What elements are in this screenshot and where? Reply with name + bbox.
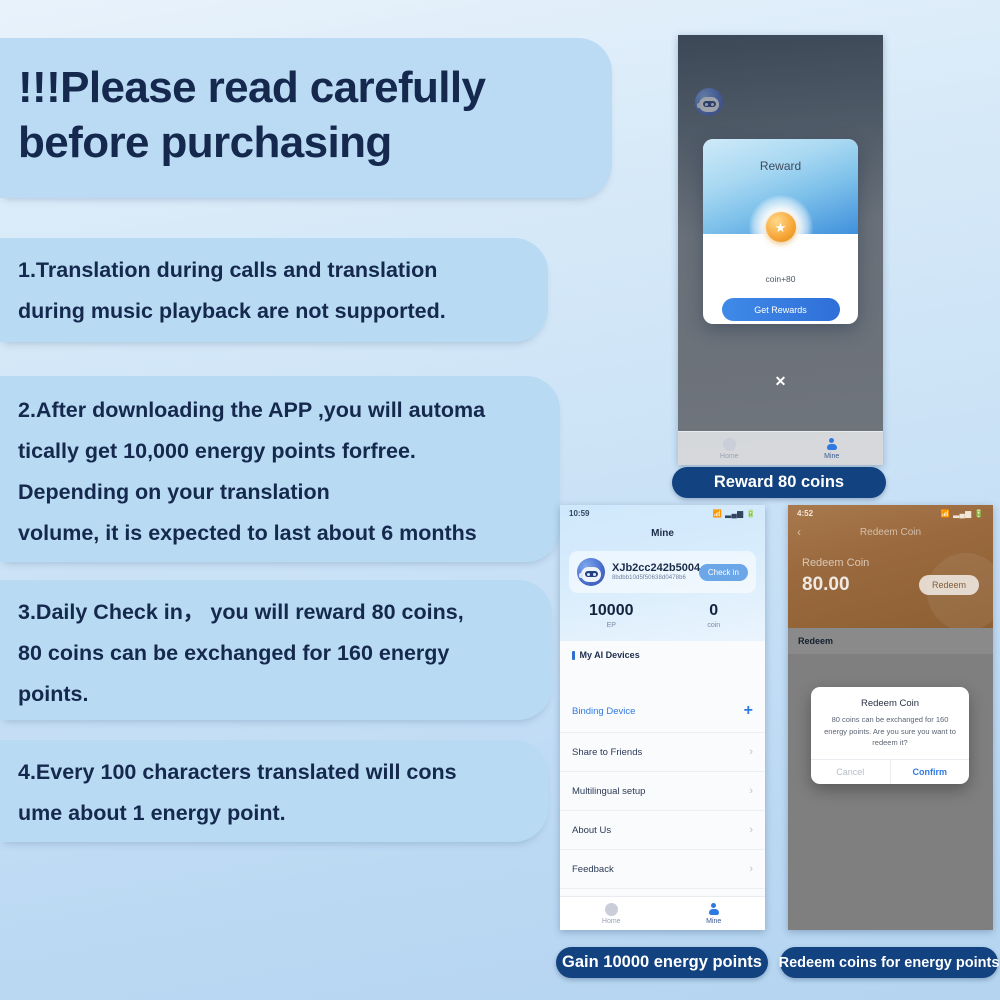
tab-mine-label: Mine bbox=[824, 453, 839, 460]
redeem-dialog-actions: Cancel Confirm bbox=[811, 759, 969, 784]
phone2-row-1-label: Share to Friends bbox=[572, 747, 642, 758]
phone2-row-multilingual-setup[interactable]: Multilingual setup › bbox=[560, 772, 765, 811]
point-2-line-3: Depending on your translation bbox=[18, 472, 538, 513]
phone2-coin-label: coin bbox=[663, 622, 766, 629]
phone2-account-name: XJb2cc242b5004 bbox=[612, 562, 692, 575]
phone2-nav-title: Mine bbox=[560, 521, 765, 545]
home-icon bbox=[723, 438, 736, 451]
caption-gain: Gain 10000 energy points bbox=[556, 947, 768, 978]
point-bubble-2: 2.After downloading the APP ,you will au… bbox=[0, 376, 560, 562]
get-rewards-button[interactable]: Get Rewards bbox=[722, 298, 840, 321]
reward-modal: Reward ★ coin+80 Get Rewards bbox=[703, 139, 858, 324]
phone2-stat-ep: 10000 EP bbox=[560, 602, 663, 629]
phone2-row-feedback[interactable]: Feedback › bbox=[560, 850, 765, 889]
cancel-button[interactable]: Cancel bbox=[811, 760, 891, 784]
phone2-row-0-label: Binding Device bbox=[572, 706, 635, 717]
redeem-dialog-title: Redeem Coin bbox=[811, 687, 969, 714]
phone-screenshot-mine: 10:59 📶 ▂▄▆ 🔋 Mine XJb2cc242b5004 8bdbb1… bbox=[560, 505, 765, 930]
tab-home-label: Home bbox=[720, 453, 739, 460]
point-2-line-2: tically get 10,000 energy points forfree… bbox=[18, 431, 538, 472]
reward-coin-glow: ★ bbox=[749, 195, 813, 259]
phone2-ep-value: 10000 bbox=[560, 602, 663, 620]
phone3-status-time: 4:52 bbox=[797, 509, 813, 518]
plus-icon[interactable]: + bbox=[744, 703, 753, 719]
phone2-row-2-label: Multilingual setup bbox=[572, 786, 645, 797]
phone3-nav-title: Redeem Coin bbox=[797, 527, 984, 538]
phone2-account-card[interactable]: XJb2cc242b5004 8bdbb10d5f50638d0478b6 Ch… bbox=[569, 551, 756, 593]
phone2-account-text: XJb2cc242b5004 8bdbb10d5f50638d0478b6 bbox=[612, 562, 692, 583]
phone2-row-binding-device[interactable]: Binding Device + bbox=[560, 690, 765, 733]
chevron-right-icon: › bbox=[749, 746, 753, 758]
phone2-tab-bar: Home Mine bbox=[560, 896, 765, 930]
phone3-amount-value: 80.00 bbox=[802, 574, 850, 596]
tab-mine[interactable]: Mine bbox=[781, 432, 884, 465]
chevron-right-icon: › bbox=[749, 785, 753, 797]
phone3-amount-row: 80.00 Redeem bbox=[788, 569, 993, 596]
phone2-coin-value: 0 bbox=[663, 602, 766, 620]
caption-reward: Reward 80 coins bbox=[672, 467, 886, 498]
phone1-tab-bar: Home Mine bbox=[678, 431, 883, 465]
point-3-line-1: 3.Daily Check in， you will reward 80 coi… bbox=[18, 592, 530, 633]
point-3-line-3: points. bbox=[18, 674, 530, 715]
phone2-check-in-button[interactable]: Check in bbox=[699, 564, 748, 581]
chevron-right-icon: › bbox=[749, 863, 753, 875]
phone2-status-bar: 10:59 📶 ▂▄▆ 🔋 bbox=[560, 505, 765, 521]
tab-home[interactable]: Home bbox=[678, 432, 781, 465]
phone3-sub-header: Redeem bbox=[788, 628, 993, 654]
phone2-stat-coin: 0 coin bbox=[663, 602, 766, 629]
tab-mine-label: Mine bbox=[706, 918, 721, 925]
person-icon bbox=[825, 438, 838, 451]
close-icon[interactable]: ✕ bbox=[775, 373, 787, 390]
phone-screenshot-redeem: 4:52 📶 ▂▄▆ 🔋 ‹ Redeem Coin Redeem Coin 8… bbox=[788, 505, 993, 930]
phone2-stats: 10000 EP 0 coin bbox=[560, 593, 765, 637]
point-2-line-1: 2.After downloading the APP ,you will au… bbox=[18, 390, 538, 431]
phone2-account-id: 8bdbb10d5f50638d0478b6 bbox=[612, 575, 692, 583]
phone3-status-icons: 📶 ▂▄▆ 🔋 bbox=[941, 509, 984, 518]
chevron-right-icon: › bbox=[749, 824, 753, 836]
point-bubble-1: 1.Translation during calls and translati… bbox=[0, 238, 548, 342]
phone2-section-label: My AI Devices bbox=[580, 650, 640, 660]
phone2-row-3-label: About Us bbox=[572, 825, 611, 836]
star-coin-icon: ★ bbox=[766, 212, 796, 242]
reward-modal-title: Reward bbox=[703, 139, 858, 173]
redeem-dialog-body: 80 coins can be exchanged for 160 energy… bbox=[811, 714, 969, 759]
reward-modal-caption: coin+80 bbox=[703, 274, 858, 284]
phone3-amber-header: 4:52 📶 ▂▄▆ 🔋 ‹ Redeem Coin Redeem Coin 8… bbox=[788, 505, 993, 628]
phone2-section-title: My AI Devices bbox=[560, 641, 765, 664]
point-bubble-3: 3.Daily Check in， you will reward 80 coi… bbox=[0, 580, 552, 720]
confirm-button[interactable]: Confirm bbox=[891, 760, 970, 784]
home-icon bbox=[605, 903, 618, 916]
tab-home[interactable]: Home bbox=[560, 897, 663, 930]
phone3-status-bar: 4:52 📶 ▂▄▆ 🔋 bbox=[788, 505, 993, 521]
headline-bubble: !!!Please read carefully before purchasi… bbox=[0, 38, 612, 198]
tab-home-label: Home bbox=[602, 918, 621, 925]
avatar-icon bbox=[577, 558, 605, 586]
caption-redeem: Redeem coins for energy points bbox=[780, 947, 998, 978]
phone2-status-icons: 📶 ▂▄▆ 🔋 bbox=[713, 509, 756, 518]
point-1-line-2: during music playback are not supported. bbox=[18, 291, 526, 332]
point-4-line-1: 4.Every 100 characters translated will c… bbox=[18, 752, 526, 793]
phone2-row-4-label: Feedback bbox=[572, 864, 614, 875]
phone3-nav-bar: ‹ Redeem Coin bbox=[788, 521, 993, 543]
tab-mine[interactable]: Mine bbox=[663, 897, 766, 930]
phone-screenshot-reward: 4:52 📶 ▂▄▆ 🔋 Mine XJb2cc242b5004 8bdbb10… bbox=[678, 35, 883, 465]
phone3-card-label: Redeem Coin bbox=[788, 543, 993, 569]
phone2-row-about-us[interactable]: About Us › bbox=[560, 811, 765, 850]
phone2-row-share-to-friends[interactable]: Share to Friends › bbox=[560, 733, 765, 772]
headline-line-1: !!!Please read carefully bbox=[18, 60, 590, 115]
point-bubble-4: 4.Every 100 characters translated will c… bbox=[0, 740, 548, 842]
point-2-line-4: volume, it is expected to last about 6 m… bbox=[18, 513, 538, 554]
headline-line-2: before purchasing bbox=[18, 115, 590, 170]
point-4-line-2: ume about 1 energy point. bbox=[18, 793, 526, 834]
redeem-confirm-dialog: Redeem Coin 80 coins can be exchanged fo… bbox=[811, 687, 969, 784]
person-icon bbox=[707, 903, 720, 916]
phone2-section-spacer bbox=[560, 664, 765, 690]
phone2-ep-label: EP bbox=[560, 622, 663, 629]
point-1-line-1: 1.Translation during calls and translati… bbox=[18, 250, 526, 291]
redeem-button[interactable]: Redeem bbox=[919, 575, 979, 595]
phone2-header: 10:59 📶 ▂▄▆ 🔋 Mine XJb2cc242b5004 8bdbb1… bbox=[560, 505, 765, 641]
phone2-status-time: 10:59 bbox=[569, 509, 589, 518]
section-marker-icon bbox=[572, 651, 575, 660]
point-3-line-2: 80 coins can be exchanged for 160 energy bbox=[18, 633, 530, 674]
